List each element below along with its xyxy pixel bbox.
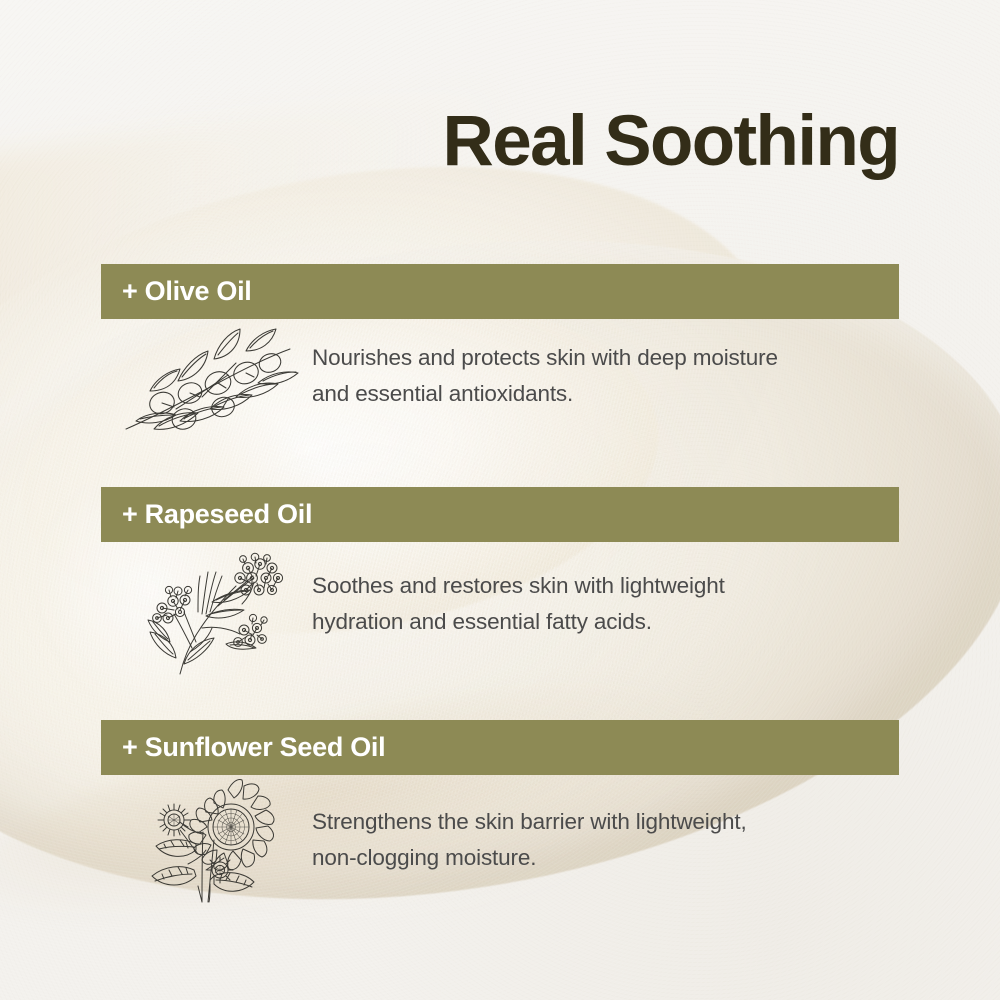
description-line: non-clogging moisture. (312, 840, 747, 876)
ingredient-band-olive[interactable]: + Olive Oil (101, 264, 899, 319)
ingredient-infographic: Real Soothing + Olive Oil (0, 0, 1000, 1000)
description-line: and essential antioxidants. (312, 376, 778, 412)
description-line: Soothes and restores skin with lightweig… (312, 568, 725, 604)
rapeseed-plant-icon (140, 552, 295, 677)
ingredient-description-rapeseed: Soothes and restores skin with lightweig… (312, 568, 725, 639)
ingredient-band-label: + Rapeseed Oil (101, 499, 312, 530)
ingredient-band-rapeseed[interactable]: + Rapeseed Oil (101, 487, 899, 542)
ingredient-band-label: + Olive Oil (101, 276, 252, 307)
ingredient-band-label: + Sunflower Seed Oil (101, 732, 385, 763)
ingredient-description-sunflower: Strengthens the skin barrier with lightw… (312, 804, 747, 875)
sunflower-plant-icon (140, 778, 295, 903)
page-title: Real Soothing (443, 106, 899, 177)
description-line: hydration and essential fatty acids. (312, 604, 725, 640)
olive-branch-icon (118, 325, 303, 435)
ingredient-band-sunflower[interactable]: + Sunflower Seed Oil (101, 720, 899, 775)
description-line: Nourishes and protects skin with deep mo… (312, 340, 778, 376)
ingredient-description-olive: Nourishes and protects skin with deep mo… (312, 340, 778, 411)
description-line: Strengthens the skin barrier with lightw… (312, 804, 747, 840)
